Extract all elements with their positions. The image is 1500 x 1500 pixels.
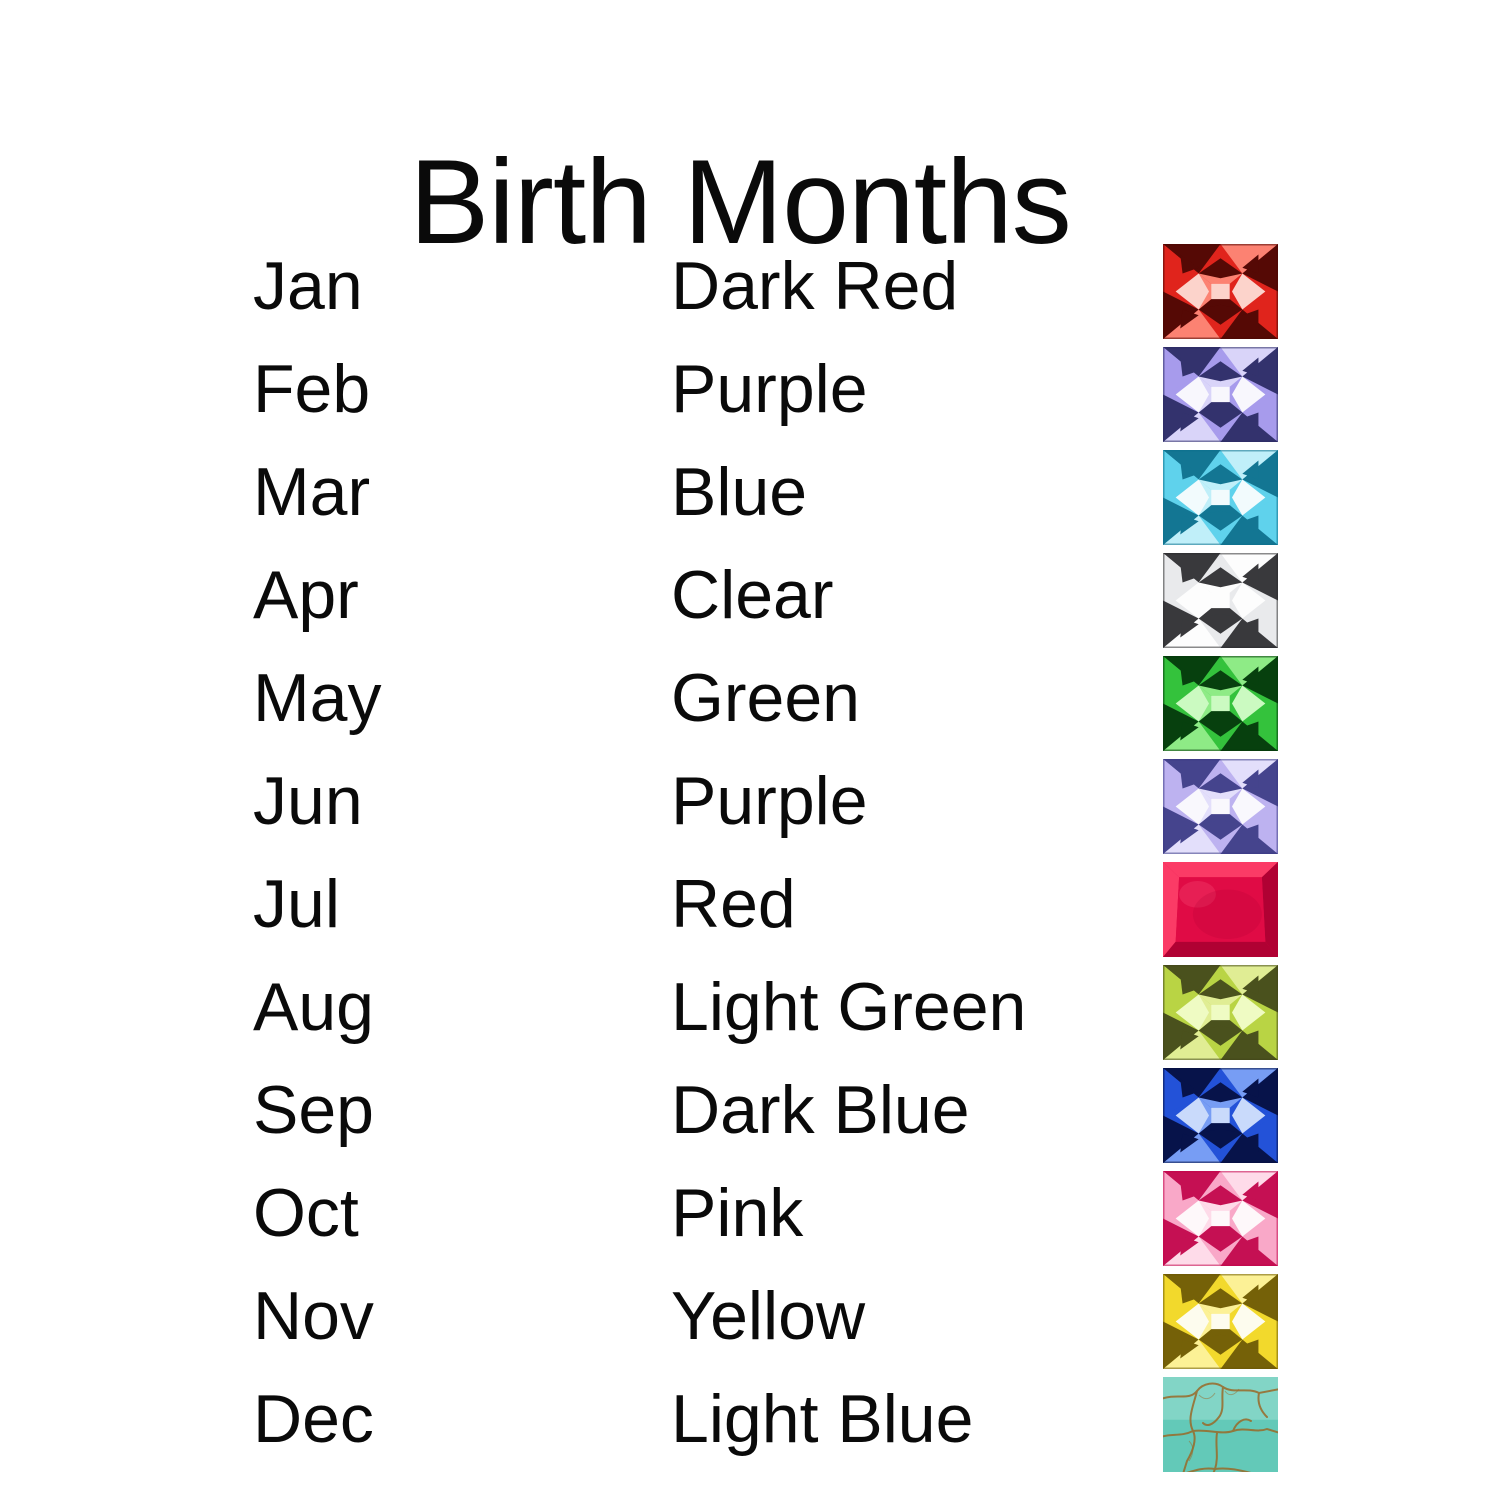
table-row: AprClear	[0, 545, 1500, 648]
gemstone-emerald-icon	[1163, 656, 1278, 751]
gemstone-amethyst-icon	[1163, 347, 1278, 442]
color-name-label: Blue	[671, 442, 807, 545]
table-row: NovYellow	[0, 1266, 1500, 1369]
gemstone-aquamarine-icon	[1163, 450, 1278, 545]
table-row: JunPurple	[0, 751, 1500, 854]
gem-swatch-cell	[1163, 1068, 1278, 1163]
gem-swatch-cell	[1163, 1377, 1278, 1472]
table-row: MayGreen	[0, 648, 1500, 751]
color-name-label: Clear	[671, 545, 834, 648]
gemstone-ruby-icon	[1163, 862, 1278, 957]
color-name-label: Purple	[671, 751, 868, 854]
gem-swatch-cell	[1163, 553, 1278, 648]
gem-swatch-cell	[1163, 965, 1278, 1060]
month-label: May	[253, 648, 381, 751]
table-row: JulRed	[0, 854, 1500, 957]
table-row: JanDark Red	[0, 236, 1500, 339]
birth-months-page: Birth Months JanDark Red FebPurple MarBl…	[0, 0, 1500, 1500]
month-label: Jan	[253, 236, 363, 339]
month-label: Mar	[253, 442, 370, 545]
gem-swatch-cell	[1163, 1274, 1278, 1369]
month-label: Sep	[253, 1060, 374, 1163]
color-name-label: Yellow	[671, 1266, 865, 1369]
color-name-label: Dark Blue	[671, 1060, 970, 1163]
gem-swatch-cell	[1163, 450, 1278, 545]
gemstone-alexandrite-icon	[1163, 759, 1278, 854]
table-row: FebPurple	[0, 339, 1500, 442]
gem-swatch-cell	[1163, 1171, 1278, 1266]
table-row: SepDark Blue	[0, 1060, 1500, 1163]
gem-swatch-cell	[1163, 759, 1278, 854]
color-name-label: Light Blue	[671, 1369, 973, 1472]
gem-swatch-cell	[1163, 244, 1278, 339]
month-label: Feb	[253, 339, 370, 442]
table-row: AugLight Green	[0, 957, 1500, 1060]
month-label: Dec	[253, 1369, 374, 1472]
color-name-label: Red	[671, 854, 796, 957]
color-name-label: Dark Red	[671, 236, 958, 339]
gemstone-tourmaline-icon	[1163, 1171, 1278, 1266]
color-name-label: Pink	[671, 1163, 803, 1266]
gem-swatch-cell	[1163, 656, 1278, 751]
color-name-label: Green	[671, 648, 860, 751]
gemstone-peridot-icon	[1163, 965, 1278, 1060]
color-name-label: Light Green	[671, 957, 1026, 1060]
table-row: MarBlue	[0, 442, 1500, 545]
gem-swatch-cell	[1163, 862, 1278, 957]
table-row: DecLight Blue	[0, 1369, 1500, 1472]
table-row: OctPink	[0, 1163, 1500, 1266]
month-label: Nov	[253, 1266, 374, 1369]
month-label: Oct	[253, 1163, 359, 1266]
month-label: Aug	[253, 957, 374, 1060]
birthstone-table: JanDark Red FebPurple MarBlue AprClear M…	[0, 236, 1500, 1472]
gemstone-diamond-icon	[1163, 553, 1278, 648]
gemstone-citrine-icon	[1163, 1274, 1278, 1369]
month-label: Jul	[253, 854, 340, 957]
gemstone-sapphire-icon	[1163, 1068, 1278, 1163]
color-name-label: Purple	[671, 339, 868, 442]
gemstone-garnet-icon	[1163, 244, 1278, 339]
gemstone-turquoise-icon	[1163, 1377, 1278, 1472]
month-label: Apr	[253, 545, 359, 648]
month-label: Jun	[253, 751, 363, 854]
gem-swatch-cell	[1163, 347, 1278, 442]
